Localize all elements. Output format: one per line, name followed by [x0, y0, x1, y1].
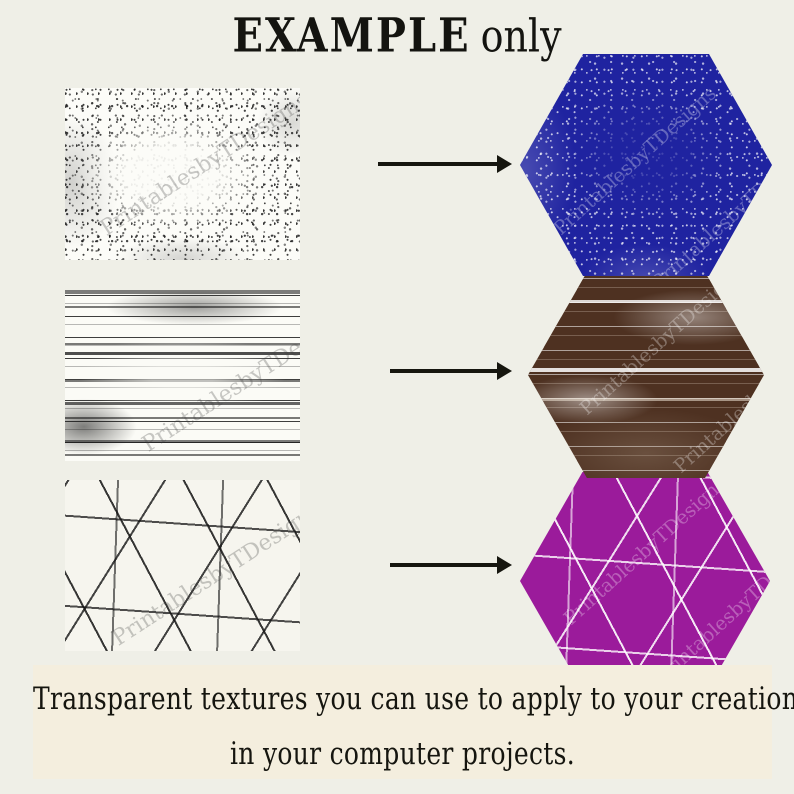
texture-swatch-grunge: PrintablesbyTDesigns: [65, 88, 300, 260]
grunge-texture-fill: [65, 88, 300, 260]
cracked-texture-fill: [65, 480, 300, 651]
arrow-shaft: [390, 369, 498, 373]
texture-swatch-cracked: PrintablesbyTDesigns: [65, 480, 300, 651]
arrow-right-icon-row-1: [378, 153, 512, 175]
arrow-right-icon-row-3: [390, 554, 512, 576]
page-title-suffix: only: [481, 10, 562, 62]
arrow-head: [497, 362, 512, 380]
arrow-shaft: [378, 162, 498, 166]
purple-hexagon: PrintablesbyTDesigns PrintablesbyTDesign…: [520, 472, 770, 690]
blue-hexagon: PrintablesbyTDesigns PrintablesbyTDesign…: [520, 54, 772, 276]
texture-swatch-wood: PrintablesbyTDesigns: [65, 290, 300, 461]
arrow-head: [497, 155, 512, 173]
brown-hexagon: PrintablesbyTDesigns PrintablesbyTDesign…: [528, 272, 764, 478]
caption-line-2: in your computer projects.: [33, 736, 772, 771]
arrow-head: [497, 556, 512, 574]
caption-line-1: Transparent textures you can use to appl…: [33, 681, 772, 716]
arrow-right-icon-row-2: [390, 360, 512, 382]
example-listing-image: EXAMPLEonly PrintablesbyTDesigns Printab…: [0, 0, 794, 794]
wood-texture-overlay: [528, 272, 764, 478]
arrow-shaft: [390, 563, 498, 567]
cracked-texture-overlay: [520, 472, 770, 690]
page-title-keyword: EXAMPLE: [232, 8, 470, 63]
caption-band: Transparent textures you can use to appl…: [33, 665, 772, 779]
wood-texture-fill: [65, 290, 300, 461]
grunge-texture-overlay: [520, 54, 772, 276]
